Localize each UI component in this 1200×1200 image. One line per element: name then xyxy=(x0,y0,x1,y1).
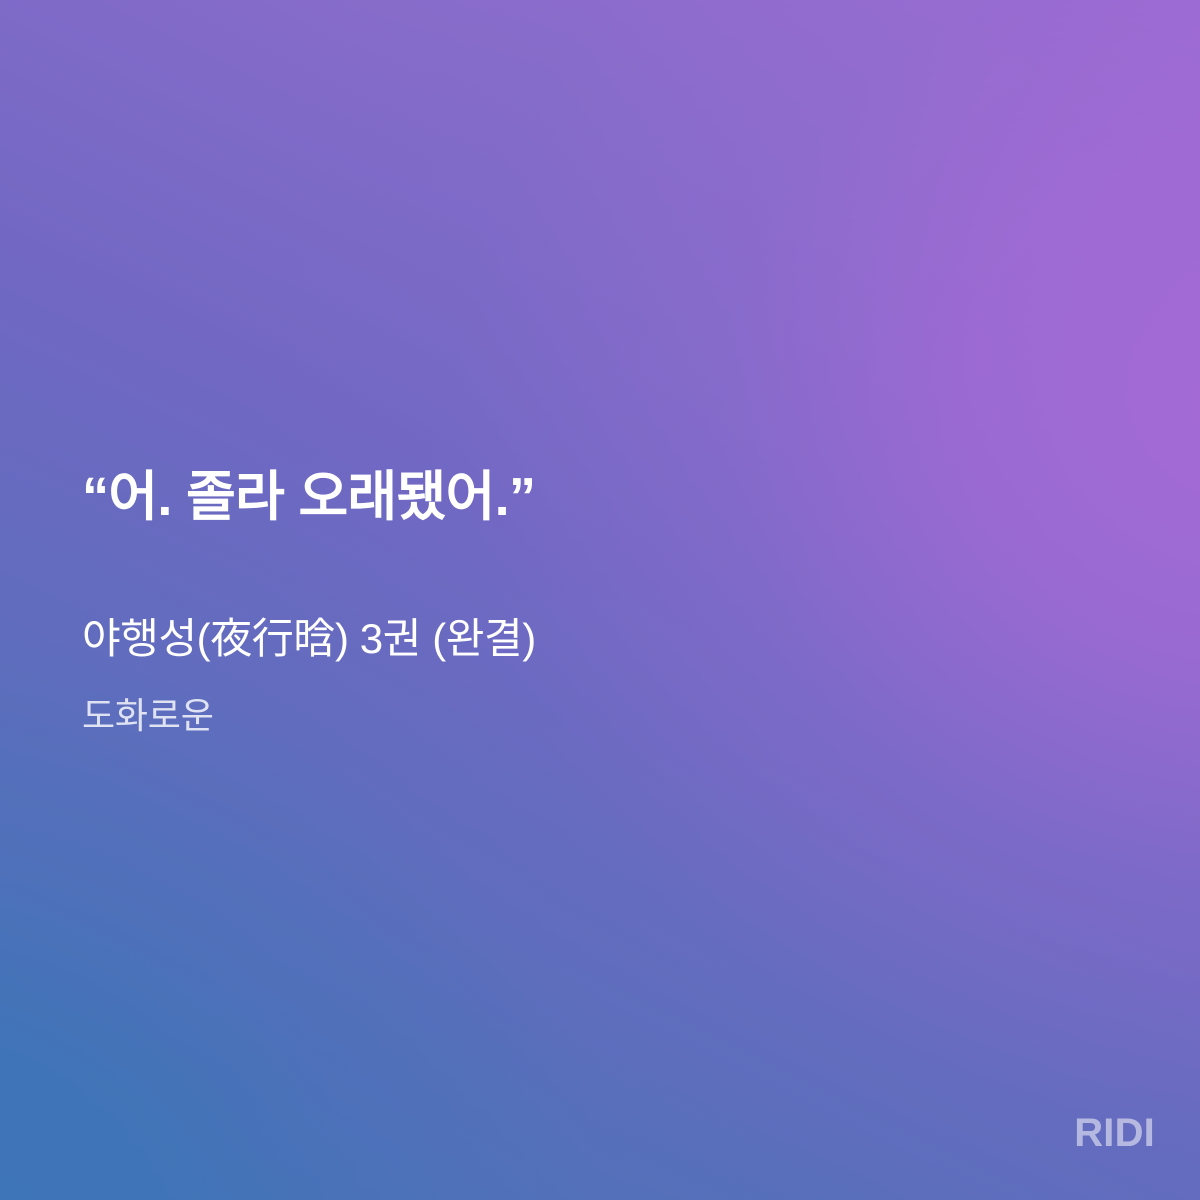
quote-card: “어. 졸라 오래됐어.” 야행성(夜行晗) 3권 (완결) 도화로운 RIDI xyxy=(0,0,1200,1200)
quote-text-block: “어. 졸라 오래됐어.” 야행성(夜行晗) 3권 (완결) 도화로운 xyxy=(82,466,1082,737)
quote-text: “어. 졸라 오래됐어.” xyxy=(82,466,1082,530)
ridi-wordmark-logo: RIDI xyxy=(1074,1113,1155,1153)
book-author: 도화로운 xyxy=(82,664,1082,737)
book-title: 야행성(夜行晗) 3권 (완결) xyxy=(82,530,1082,664)
